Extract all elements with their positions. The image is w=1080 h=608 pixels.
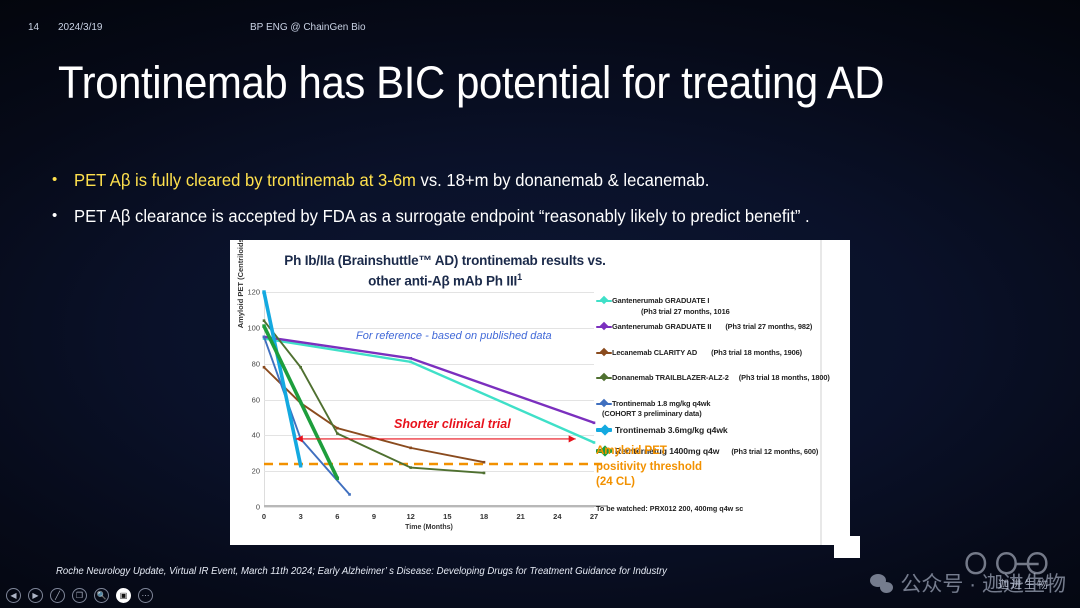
series-point bbox=[262, 290, 265, 293]
legend-marker-icon bbox=[596, 296, 612, 305]
legend-marker-icon bbox=[596, 322, 612, 331]
arrow-head-icon bbox=[569, 435, 576, 442]
series-point bbox=[299, 366, 302, 369]
bullet-text: PET Aβ is fully cleared by trontinemab a… bbox=[74, 168, 709, 192]
series-point bbox=[263, 335, 266, 338]
threshold-line-2: positivity threshold bbox=[596, 460, 702, 476]
legend-label: Gantenerumab GRADUATE I bbox=[612, 296, 709, 305]
chart-title-superscript: 1 bbox=[517, 272, 522, 282]
series-line bbox=[264, 337, 594, 423]
legend-trial-text: (Ph3 trial 27 months, 982) bbox=[725, 322, 812, 331]
chart-title-line2: other anti-Aβ mAb Ph III bbox=[368, 274, 517, 289]
presentation-toolbar[interactable]: ◀ ▶ ╱ ❐ 🔍 ▣ ⋯ bbox=[6, 588, 153, 603]
legend-label: Trontinemab 3.6mg/kg q4wk bbox=[615, 425, 728, 435]
x-axis-label: Time (Months) bbox=[405, 524, 453, 531]
legend-trial-text: (Ph3 trial 18 months, 1906) bbox=[711, 348, 802, 357]
list-item: • PET Aβ is fully cleared by trontinemab… bbox=[52, 168, 1002, 192]
legend-trial-text: (Ph3 trial 18 months, 1800) bbox=[739, 373, 830, 382]
series-point bbox=[593, 441, 596, 444]
series-point bbox=[409, 357, 412, 360]
legend-marker-icon bbox=[596, 348, 612, 357]
threshold-line-3: (24 CL) bbox=[596, 475, 702, 491]
legend-item: Gantenerumab GRADUATE II (Ph3 trial 27 m… bbox=[596, 322, 812, 331]
bullet-marker: • bbox=[52, 168, 74, 192]
x-tick-label: 9 bbox=[372, 512, 376, 521]
wechat-watermark-text: 公众号 · 迦进生物 bbox=[900, 568, 1066, 598]
threshold-line-1: Amyloid PET bbox=[596, 444, 702, 460]
chart-title-line1: Ph Ib/IIa (Brainshuttle™ AD) trontinemab… bbox=[284, 253, 605, 268]
x-tick-label: 15 bbox=[443, 512, 451, 521]
series-point bbox=[263, 319, 266, 322]
to-be-watched-note: To be watched: PRX012 200, 400mg q4w sc bbox=[596, 504, 743, 513]
series-point bbox=[483, 472, 486, 475]
pen-icon[interactable]: ╱ bbox=[50, 588, 65, 603]
series-point bbox=[336, 427, 339, 430]
footnote: Roche Neurology Update, Virtual IR Event… bbox=[56, 566, 667, 577]
slide-page-number: 14 bbox=[28, 22, 39, 33]
panel-divider bbox=[820, 240, 822, 545]
legend-trial-text: (COHORT 3 preliminary data) bbox=[602, 409, 702, 418]
threshold-label: Amyloid PET positivity threshold (24 CL) bbox=[596, 444, 702, 491]
y-tick-label: 20 bbox=[252, 467, 260, 476]
legend-label: Gantenerumab GRADUATE II bbox=[612, 322, 711, 331]
series-point bbox=[409, 466, 412, 469]
y-tick-label: 0 bbox=[256, 503, 260, 512]
list-item: • PET Aβ clearance is accepted by FDA as… bbox=[52, 204, 1002, 228]
annotation-for-reference: For reference - based on published data bbox=[356, 330, 552, 342]
panels-icon[interactable]: ❐ bbox=[72, 588, 87, 603]
series-line bbox=[264, 292, 301, 466]
x-tick-label: 27 bbox=[590, 512, 598, 521]
x-tick-label: 12 bbox=[406, 512, 414, 521]
legend-marker-icon bbox=[596, 373, 612, 382]
white-placeholder-box bbox=[834, 536, 860, 558]
bullet-text: PET Aβ clearance is accepted by FDA as a… bbox=[74, 204, 810, 228]
page-title: Trontinemab has BIC potential for treati… bbox=[58, 57, 884, 109]
gridline bbox=[264, 507, 594, 508]
zoom-icon[interactable]: 🔍 bbox=[94, 588, 109, 603]
chart-panel: Ph Ib/IIa (Brainshuttle™ AD) trontinemab… bbox=[230, 240, 850, 545]
series-point bbox=[262, 324, 265, 327]
series-point bbox=[336, 432, 339, 435]
y-tick-label: 100 bbox=[247, 323, 260, 332]
x-tick-label: 21 bbox=[516, 512, 524, 521]
bullet-rest: vs. 18+m by donanemab & lecanemab. bbox=[416, 170, 709, 190]
series-point bbox=[348, 493, 351, 496]
series-point bbox=[483, 461, 486, 464]
plot-area: Amyloid PET (Centriloids) 02040608010012… bbox=[264, 292, 594, 507]
x-tick-label: 6 bbox=[335, 512, 339, 521]
bullet-highlight: PET Aβ is fully cleared by trontinemab a… bbox=[74, 170, 416, 190]
series-point bbox=[299, 464, 302, 467]
legend-trial: (Ph3 trial 27 months, 1016 bbox=[641, 307, 730, 316]
chart-title: Ph Ib/IIa (Brainshuttle™ AD) trontinemab… bbox=[230, 252, 660, 290]
series-point bbox=[409, 361, 412, 364]
record-icon[interactable]: ▣ bbox=[116, 588, 131, 603]
legend-label: Trontinemab 1.8 mg/kg q4wk bbox=[612, 399, 710, 408]
chart-series-svg bbox=[264, 292, 594, 507]
annotation-shorter-trial: Shorter clinical trial bbox=[394, 417, 511, 431]
y-axis-label: Amyloid PET (Centriloids) bbox=[236, 240, 245, 342]
slide-canvas: 14 2024/3/19 BP ENG @ ChainGen Bio Tront… bbox=[0, 0, 1080, 608]
y-tick-label: 80 bbox=[252, 359, 260, 368]
y-tick-label: 120 bbox=[247, 288, 260, 297]
bullet-rest: PET Aβ clearance is accepted by FDA as a… bbox=[74, 206, 810, 226]
bullet-marker: • bbox=[52, 204, 74, 228]
more-icon[interactable]: ⋯ bbox=[138, 588, 153, 603]
legend-item: Trontinemab 3.6mg/kg q4wk bbox=[596, 425, 728, 435]
x-tick-label: 18 bbox=[480, 512, 488, 521]
legend-trial-text: (Ph3 trial 27 months, 1016 bbox=[641, 307, 730, 316]
y-tick-label: 60 bbox=[252, 395, 260, 404]
slide-org-label: BP ENG @ ChainGen Bio bbox=[250, 22, 366, 33]
legend-item: Donanemab TRAILBLAZER-ALZ-2 (Ph3 trial 1… bbox=[596, 373, 830, 382]
y-tick-label: 40 bbox=[252, 431, 260, 440]
wechat-icon bbox=[870, 574, 893, 593]
x-tick-label: 3 bbox=[299, 512, 303, 521]
slide-date: 2024/3/19 bbox=[58, 22, 103, 33]
wechat-watermark: 公众号 · 迦进生物 bbox=[870, 568, 1066, 598]
slide-header: 14 2024/3/19 BP ENG @ ChainGen Bio bbox=[0, 22, 1080, 38]
next-slide-icon[interactable]: ▶ bbox=[28, 588, 43, 603]
legend-label: Lecanemab CLARITY AD bbox=[612, 348, 697, 357]
watermark: 公众号 · 迦进生物 bbox=[870, 568, 1066, 598]
series-point bbox=[593, 421, 596, 424]
legend-item: Trontinemab 1.8 mg/kg q4wk bbox=[596, 399, 710, 408]
x-tick-label: 0 bbox=[262, 512, 266, 521]
legend-trial: (COHORT 3 preliminary data) bbox=[602, 409, 702, 418]
series-point bbox=[409, 447, 412, 450]
legend-item: Lecanemab CLARITY AD (Ph3 trial 18 month… bbox=[596, 348, 802, 357]
legend-label: Donanemab TRAILBLAZER-ALZ-2 bbox=[612, 373, 729, 382]
bullet-list: • PET Aβ is fully cleared by trontinemab… bbox=[52, 168, 1002, 240]
legend-marker-icon bbox=[596, 425, 612, 434]
legend-item: Gantenerumab GRADUATE I bbox=[596, 296, 709, 305]
x-tick-label: 24 bbox=[553, 512, 561, 521]
legend-marker-icon bbox=[596, 399, 612, 408]
legend-trial-text: (Ph3 trial 12 months, 600) bbox=[731, 447, 818, 456]
prev-slide-icon[interactable]: ◀ bbox=[6, 588, 21, 603]
series-point bbox=[336, 477, 339, 480]
series-point bbox=[263, 366, 266, 369]
